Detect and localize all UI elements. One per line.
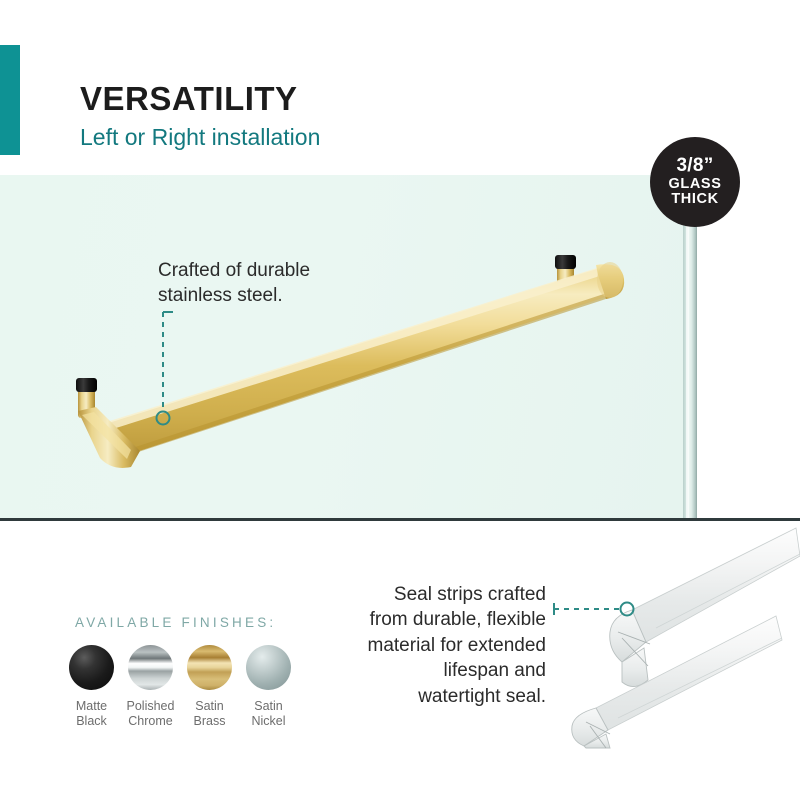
finish-label: Matte Black (76, 699, 107, 730)
infographic-canvas: VERSATILITY Left or Right installation (0, 0, 800, 800)
finish-option-polished-chrome[interactable]: Polished Chrome (121, 645, 180, 730)
finishes-swatch-list: Matte Black Polished Chrome Satin Brass … (62, 645, 322, 730)
finish-label: Satin Brass (194, 699, 226, 730)
badge-line-glass: GLASS (669, 177, 722, 193)
finish-label: Satin Nickel (251, 699, 285, 730)
satin-brass-swatch (187, 645, 232, 690)
available-finishes-title: AVAILABLE FINISHES: (75, 615, 276, 630)
towel-bar-illustration (0, 175, 690, 519)
finish-option-satin-brass[interactable]: Satin Brass (180, 645, 239, 730)
callout-seal-text: Seal strips crafted from durable, flexib… (350, 582, 546, 709)
polished-chrome-swatch (128, 645, 173, 690)
glass-thickness-badge: 3/8” GLASS THICK (650, 137, 740, 227)
accent-bar (0, 45, 20, 155)
satin-nickel-swatch (246, 645, 291, 690)
page-title: VERSATILITY (80, 82, 298, 115)
finish-option-satin-nickel[interactable]: Satin Nickel (239, 645, 298, 730)
finish-option-matte-black[interactable]: Matte Black (62, 645, 121, 730)
badge-line-thick: THICK (671, 192, 718, 208)
finish-label: Polished Chrome (127, 699, 175, 730)
matte-black-swatch (69, 645, 114, 690)
seal-strips-illustration (560, 520, 800, 750)
badge-fraction: 3/8” (676, 156, 713, 177)
page-subtitle: Left or Right installation (80, 126, 320, 149)
callout-bar-text: Crafted of durable stainless steel. (158, 258, 310, 308)
